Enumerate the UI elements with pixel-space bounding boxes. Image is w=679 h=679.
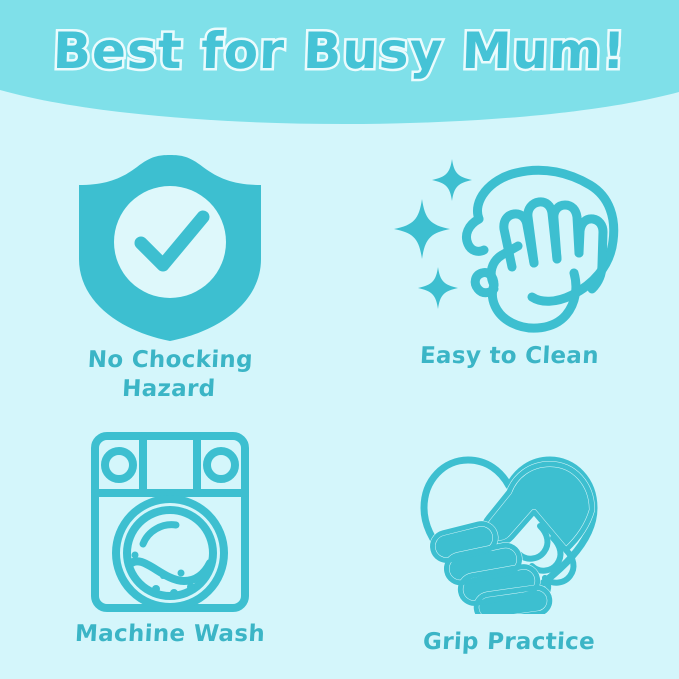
hand-wiping-cloth-sparkle-icon — [340, 140, 679, 340]
feature-label-line: Easy to Clean — [419, 342, 599, 371]
feature-grip-practice: Grip Practice — [340, 410, 679, 679]
heart-handshake-icon — [340, 410, 679, 622]
infographic-canvas: Best for Busy Mum! No Chocking Hazard — [0, 0, 679, 679]
feature-grid: No Chocking Hazard — [0, 140, 679, 679]
feature-label-line: Hazard — [86, 375, 253, 404]
feature-label-line: No Chocking — [87, 346, 254, 375]
feature-machine-wash: Machine Wash — [0, 410, 340, 679]
shield-check-icon — [0, 140, 340, 344]
feature-label-easy-to-clean: Easy to Clean — [419, 342, 599, 371]
feature-label-no-chocking-hazard: No Chocking Hazard — [86, 346, 254, 404]
page-title-text: Best for Busy Mum! — [52, 22, 627, 80]
feature-label-grip-practice: Grip Practice — [423, 628, 596, 657]
washing-machine-icon — [0, 410, 340, 614]
feature-label-line: Grip Practice — [423, 628, 596, 657]
feature-label-machine-wash: Machine Wash — [74, 620, 266, 649]
page-title: Best for Busy Mum! — [0, 22, 679, 80]
feature-easy-to-clean: Easy to Clean — [340, 140, 679, 410]
feature-label-line: Machine Wash — [74, 620, 266, 649]
feature-no-chocking-hazard: No Chocking Hazard — [0, 140, 340, 410]
